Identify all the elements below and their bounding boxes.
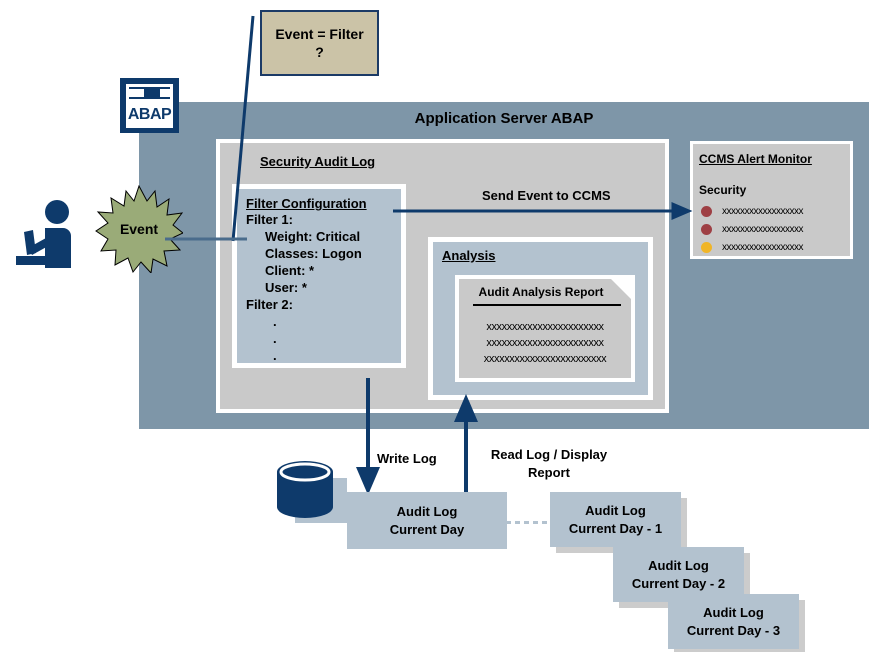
audit-log-title: Audit Log xyxy=(703,604,764,622)
event-filter-callout: Event = Filter ? xyxy=(260,10,379,76)
database-cylinder-icon xyxy=(277,461,333,518)
callout-line-2: ? xyxy=(315,43,324,61)
audit-log-day: Current Day - 2 xyxy=(632,575,725,593)
audit-log-day: Current Day - 1 xyxy=(569,520,662,538)
callout-leader-line xyxy=(233,16,253,241)
audit-log-box: Audit Log Current Day - 1 xyxy=(550,492,681,547)
callout-line-1: Event = Filter xyxy=(275,25,363,43)
audit-log-box: Audit Log Current Day xyxy=(347,492,507,549)
log-continuation-dots xyxy=(506,521,553,524)
audit-log-box: Audit Log Current Day - 3 xyxy=(668,594,799,649)
write-log-label: Write Log xyxy=(377,451,437,466)
audit-log-day: Current Day xyxy=(390,521,464,539)
audit-log-title: Audit Log xyxy=(585,502,646,520)
read-log-display-report-label: Read Log / Display Report xyxy=(484,446,614,482)
audit-log-title: Audit Log xyxy=(648,557,709,575)
audit-log-day: Current Day - 3 xyxy=(687,622,780,640)
audit-log-title: Audit Log xyxy=(397,503,458,521)
diagram-canvas: Application Server ABAP Security Audit L… xyxy=(0,0,893,652)
connector-lines xyxy=(0,0,893,652)
send-event-to-ccms-label: Send Event to CCMS xyxy=(482,188,611,203)
